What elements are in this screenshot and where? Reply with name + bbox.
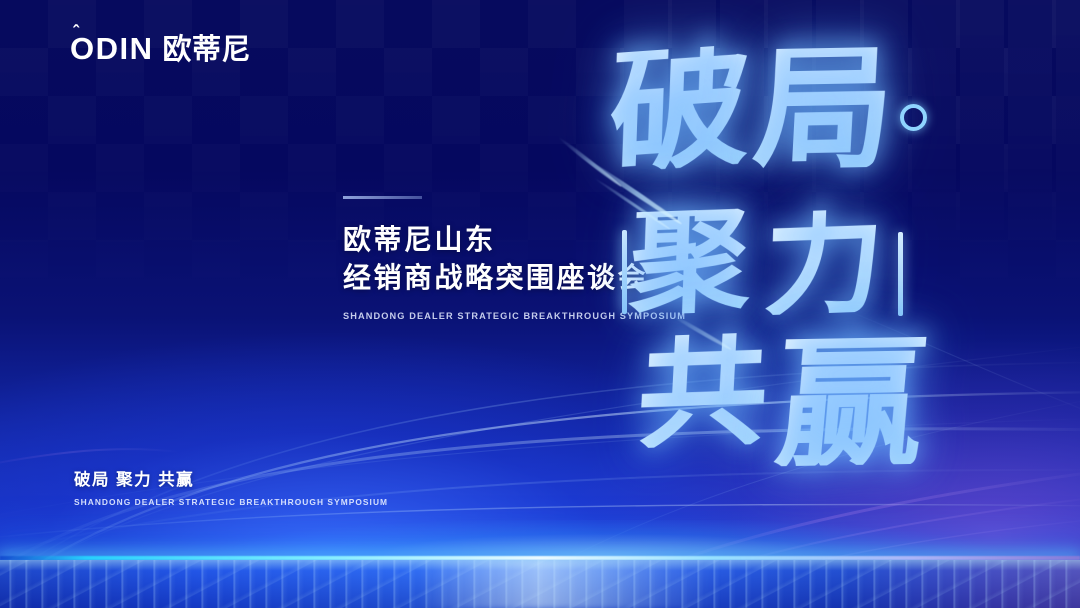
calligraphy-char-ju: 局 [751, 47, 901, 170]
tagline-english: SHANDONG DEALER STRATEGIC BREAKTHROUGH S… [74, 497, 388, 507]
odin-logo: ˆ ODIN 欧蒂尼 [70, 33, 251, 65]
calligraphy-row-po-ju: 破 局 [610, 48, 898, 168]
tagline-block: 破局 聚力 共赢 SHANDONG DEALER STRATEGIC BREAK… [74, 466, 388, 507]
event-poster: ˆ ODIN 欧蒂尼 欧蒂尼山东 经销商战略突围座谈会 SHANDONG DEA… [0, 0, 1080, 608]
reflective-floor [0, 560, 1080, 608]
calligraphy-char-li: 力 [762, 208, 900, 316]
tagline-chinese: 破局 聚力 共赢 [74, 466, 388, 490]
accent-bar-right [898, 232, 903, 316]
calligraphy-row-gong-ying: 共 赢 [638, 326, 936, 453]
logo-circumflex-icon: ˆ [73, 23, 81, 41]
title-divider-rule [343, 196, 422, 199]
degree-ring-icon [900, 104, 927, 131]
floor-highlight [420, 560, 720, 608]
logo-latin-label: ODIN [70, 31, 154, 66]
calligraphy-char-ying: 赢 [771, 337, 940, 467]
accent-bar-left [622, 230, 627, 314]
calligraphy-char-ju2: 聚 [628, 208, 766, 316]
logo-chinese-label: 欧蒂尼 [163, 36, 252, 65]
calligraphy-char-po: 破 [608, 43, 757, 173]
calligraphy-row-ju-li: 聚 力 [630, 210, 898, 313]
calligraphy-char-gong: 共 [635, 331, 781, 448]
calligraphy-slogan: 破 局 聚 力 共 赢 [560, 40, 1060, 470]
logo-latin-text: ˆ ODIN [70, 33, 154, 64]
